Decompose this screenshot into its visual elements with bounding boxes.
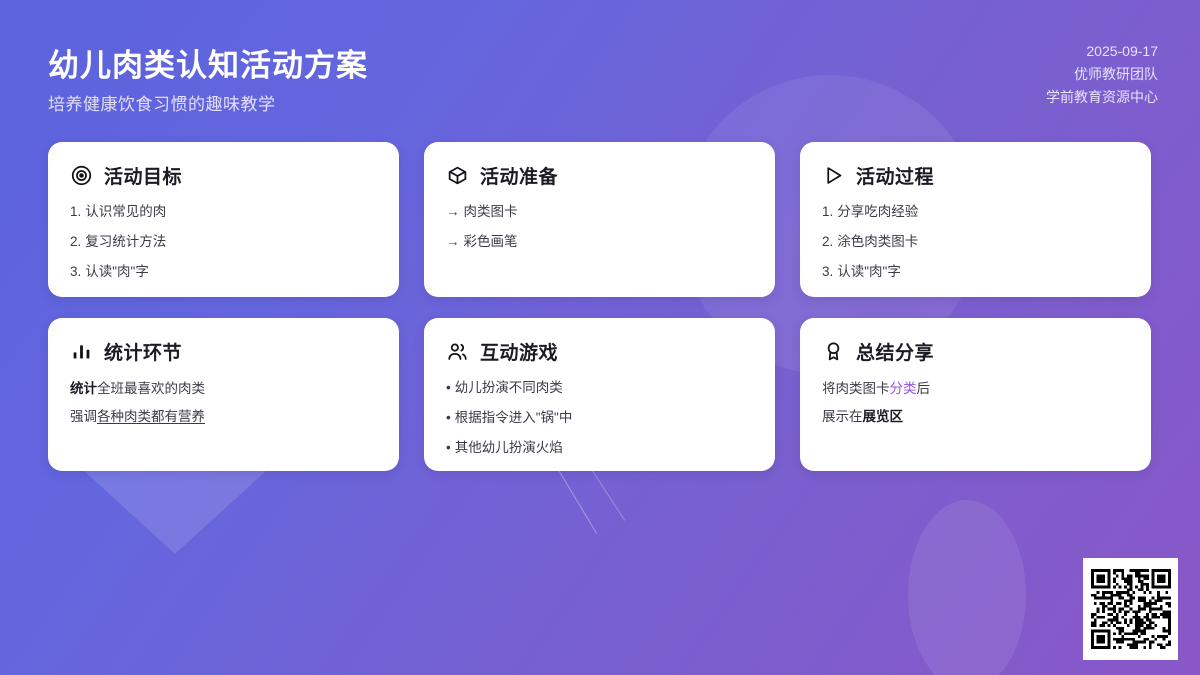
- card-title: 统计环节: [104, 338, 182, 365]
- award-icon: [822, 340, 845, 363]
- rich-line: 强调各种肉类都有营养: [70, 407, 377, 427]
- list-text: 涂色肉类图卡: [837, 234, 918, 249]
- card-activity-preparation[interactable]: 活动准备 →肉类图卡 →彩色画笔: [424, 142, 775, 297]
- list-item: 1.分享吃肉经验: [822, 203, 1129, 221]
- list-item: 3.认读"肉"字: [70, 263, 377, 281]
- decorative-ellipse: [908, 500, 1026, 675]
- rich-segment: 将肉类图卡: [822, 381, 890, 396]
- rich-line: 展示在展览区: [822, 407, 1129, 427]
- rich-segment-bold: 统计: [70, 381, 97, 396]
- list-text: 其他幼儿扮演火焰: [455, 440, 563, 455]
- card-grid: 活动目标 1.认识常见的肉 2.复习统计方法 3.认读"肉"字 活动准备 →肉类…: [48, 142, 1152, 471]
- list-marker: •: [446, 380, 451, 395]
- card-header: 活动目标: [70, 162, 377, 189]
- header-meta: 2025-09-17 优师教研团队 学前教育资源中心: [1046, 40, 1158, 109]
- card-body: 1.分享吃肉经验 2.涂色肉类图卡 3.认读"肉"字: [822, 203, 1129, 282]
- qr-code-image: [1091, 569, 1171, 649]
- card-title: 互动游戏: [480, 338, 558, 365]
- list-item: →肉类图卡: [446, 203, 753, 221]
- list-marker: 2.: [70, 234, 81, 249]
- card-interactive-game[interactable]: 互动游戏 •幼儿扮演不同肉类 •根据指令进入"锅"中 •其他幼儿扮演火焰: [424, 318, 775, 471]
- list-text: 根据指令进入"锅"中: [455, 410, 573, 425]
- list-text: 复习统计方法: [85, 234, 166, 249]
- card-activity-process[interactable]: 活动过程 1.分享吃肉经验 2.涂色肉类图卡 3.认读"肉"字: [800, 142, 1151, 297]
- list-marker: 3.: [70, 264, 81, 279]
- rich-line: 统计全班最喜欢的肉类: [70, 379, 377, 399]
- rich-line: 将肉类图卡分类后: [822, 379, 1129, 399]
- rich-segment-highlight: 分类: [890, 381, 917, 396]
- list-item: •幼儿扮演不同肉类: [446, 379, 753, 397]
- rich-segment-bold: 展览区: [863, 409, 904, 424]
- list-text: 彩色画笔: [464, 234, 518, 249]
- page-subtitle: 培养健康饮食习惯的趣味教学: [48, 90, 276, 115]
- card-statistics-section[interactable]: 统计环节 统计全班最喜欢的肉类 强调各种肉类都有营养: [48, 318, 399, 471]
- rich-segment: 强调: [70, 409, 97, 424]
- card-body: 将肉类图卡分类后 展示在展览区: [822, 379, 1129, 426]
- list-marker: •: [446, 410, 451, 425]
- meta-date: 2025-09-17: [1046, 40, 1158, 63]
- list-text: 认读"肉"字: [85, 264, 149, 279]
- list-marker: →: [446, 204, 460, 219]
- card-header: 总结分享: [822, 338, 1129, 365]
- list-marker: 2.: [822, 234, 833, 249]
- card-title: 活动准备: [480, 162, 558, 189]
- target-icon: [70, 164, 93, 187]
- meta-team: 优师教研团队: [1046, 63, 1158, 86]
- list-item: →彩色画笔: [446, 233, 753, 251]
- meta-org: 学前教育资源中心: [1046, 86, 1158, 109]
- list-text: 分享吃肉经验: [837, 204, 918, 219]
- list-item: 1.认识常见的肉: [70, 203, 377, 221]
- slide-header: 幼儿肉类认知活动方案 培养健康饮食习惯的趣味教学 2025-09-17 优师教研…: [0, 0, 1200, 130]
- card-summary-sharing[interactable]: 总结分享 将肉类图卡分类后 展示在展览区: [800, 318, 1151, 471]
- card-body: 统计全班最喜欢的肉类 强调各种肉类都有营养: [70, 379, 377, 426]
- decorative-triangle: [83, 470, 267, 554]
- card-body: •幼儿扮演不同肉类 •根据指令进入"锅"中 •其他幼儿扮演火焰: [446, 379, 753, 458]
- qr-code[interactable]: [1083, 558, 1178, 660]
- list-text: 认识常见的肉: [85, 204, 166, 219]
- list-item: 3.认读"肉"字: [822, 263, 1129, 281]
- page-title: 幼儿肉类认知活动方案: [48, 40, 368, 85]
- card-title: 活动目标: [104, 162, 182, 189]
- card-activity-goals[interactable]: 活动目标 1.认识常见的肉 2.复习统计方法 3.认读"肉"字: [48, 142, 399, 297]
- card-title: 活动过程: [856, 162, 934, 189]
- play-icon: [822, 164, 845, 187]
- slide-root: 幼儿肉类认知活动方案 培养健康饮食习惯的趣味教学 2025-09-17 优师教研…: [0, 0, 1200, 675]
- rich-segment: 展示在: [822, 409, 863, 424]
- card-header: 活动准备: [446, 162, 753, 189]
- list-text: 认读"肉"字: [837, 264, 901, 279]
- list-item: 2.复习统计方法: [70, 233, 377, 251]
- list-text: 幼儿扮演不同肉类: [455, 380, 563, 395]
- list-item: •根据指令进入"锅"中: [446, 409, 753, 427]
- list-marker: →: [446, 234, 460, 249]
- card-header: 活动过程: [822, 162, 1129, 189]
- list-marker: 1.: [70, 204, 81, 219]
- bar-chart-icon: [70, 340, 93, 363]
- decorative-diagonal-line: [555, 465, 597, 534]
- card-header: 统计环节: [70, 338, 377, 365]
- rich-segment: 后: [917, 381, 931, 396]
- list-marker: •: [446, 440, 451, 455]
- list-marker: 1.: [822, 204, 833, 219]
- list-marker: 3.: [822, 264, 833, 279]
- card-title: 总结分享: [856, 338, 934, 365]
- rich-segment-underline: 各种肉类都有营养: [97, 409, 205, 424]
- list-text: 肉类图卡: [464, 204, 518, 219]
- list-item: •其他幼儿扮演火焰: [446, 439, 753, 457]
- list-item: 2.涂色肉类图卡: [822, 233, 1129, 251]
- box-icon: [446, 164, 469, 187]
- card-body: 1.认识常见的肉 2.复习统计方法 3.认读"肉"字: [70, 203, 377, 282]
- rich-segment: 全班最喜欢的肉类: [97, 381, 205, 396]
- users-icon: [446, 340, 469, 363]
- card-body: →肉类图卡 →彩色画笔: [446, 203, 753, 251]
- card-header: 互动游戏: [446, 338, 753, 365]
